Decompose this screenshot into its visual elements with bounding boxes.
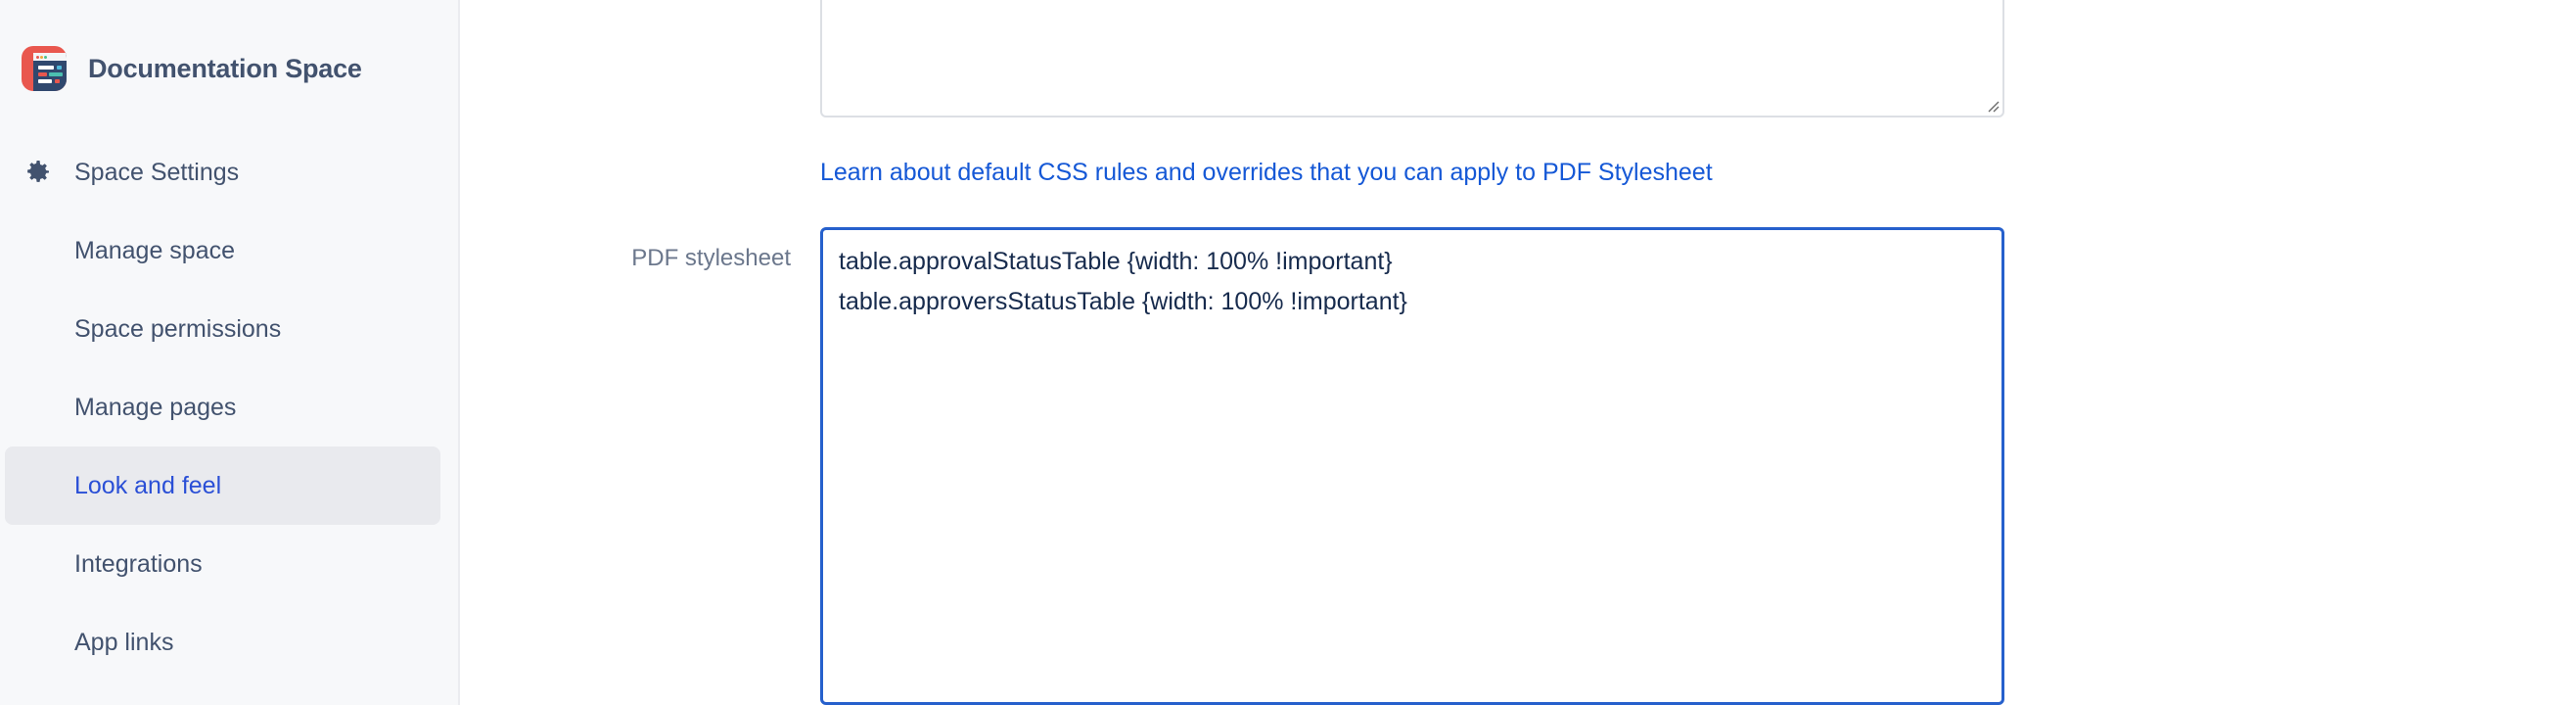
- documentation-space-logo-icon: [22, 46, 67, 91]
- sidebar-item-label: Integrations: [74, 550, 203, 579]
- look-and-feel-content: Learn about default CSS rules and overri…: [460, 0, 2576, 705]
- resize-grip-icon[interactable]: [1982, 95, 2000, 113]
- sidebar-item-label: Manage space: [74, 237, 235, 265]
- sidebar-item-label: Manage pages: [74, 394, 236, 422]
- gear-icon: [22, 157, 53, 188]
- sidebar-item-space-permissions[interactable]: Space permissions: [5, 290, 440, 368]
- pdf-stylesheet-textarea[interactable]: table.approvalStatusTable {width: 100% !…: [820, 227, 2004, 705]
- space-title: Documentation Space: [88, 54, 362, 84]
- sidebar-item-manage-pages[interactable]: Manage pages: [5, 368, 440, 446]
- sidebar-section-space-settings[interactable]: Space Settings: [0, 133, 458, 211]
- sidebar-item-label: Look and feel: [74, 472, 221, 500]
- space-settings-sidebar: Documentation Space Space Settings Manag…: [0, 0, 460, 705]
- pdf-stylesheet-line: table.approvalStatusTable {width: 100% !…: [839, 242, 1986, 282]
- sidebar-item-integrations[interactable]: Integrations: [5, 525, 440, 603]
- sidebar-item-manage-space[interactable]: Manage space: [5, 211, 440, 290]
- sidebar-item-look-and-feel[interactable]: Look and feel: [5, 446, 440, 525]
- sidebar-item-label: Space permissions: [74, 315, 281, 344]
- pdf-stylesheet-help-link[interactable]: Learn about default CSS rules and overri…: [820, 159, 1713, 187]
- sidebar-nav: Space Settings Manage space Space permis…: [0, 133, 458, 681]
- sidebar-item-app-links[interactable]: App links: [5, 603, 440, 681]
- space-header[interactable]: Documentation Space: [0, 29, 458, 108]
- space-settings-page: Documentation Space Space Settings Manag…: [0, 0, 2576, 705]
- sidebar-item-label: App links: [74, 629, 173, 657]
- pdf-stylesheet-label: PDF stylesheet: [460, 245, 791, 272]
- sidebar-section-label: Space Settings: [74, 159, 239, 187]
- space-stylesheet-textarea[interactable]: [820, 0, 2004, 117]
- pdf-stylesheet-line: table.approversStatusTable {width: 100% …: [839, 282, 1986, 322]
